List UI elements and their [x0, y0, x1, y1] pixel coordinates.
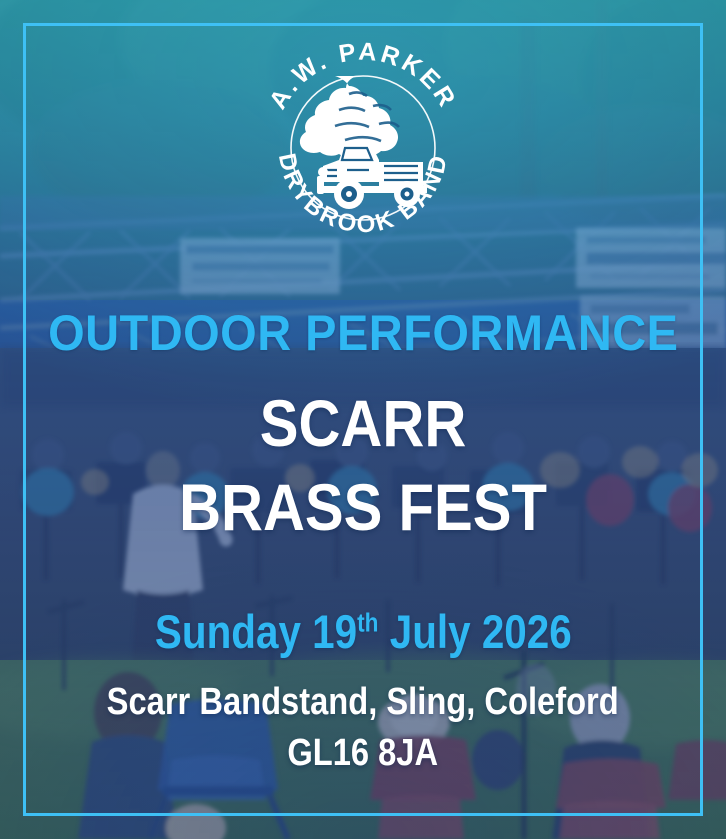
- event-venue: Scarr Bandstand, Sling, Coleford GL16 8J…: [107, 677, 619, 780]
- headline-outdoor-performance: OUTDOOR PERFORMANCE: [48, 308, 678, 358]
- event-date-day-name: Sunday: [155, 605, 301, 658]
- event-poster: A.W. PARKER DRYBROOK BAND: [0, 0, 726, 839]
- event-date-day-suffix: th: [357, 607, 378, 637]
- venue-postcode: GL16 8JA: [107, 728, 619, 779]
- aw-parker-drybrook-band-logo-icon: A.W. PARKER DRYBROOK BAND: [253, 36, 473, 256]
- event-date-day-number: 19: [312, 605, 357, 658]
- poster-content: A.W. PARKER DRYBROOK BAND: [0, 0, 726, 839]
- festival-title-line-2: BRASS FEST: [179, 466, 547, 550]
- venue-address-line: Scarr Bandstand, Sling, Coleford: [107, 677, 619, 728]
- event-date-month-year: July 2026: [389, 605, 571, 658]
- event-date: Sunday 19th July 2026: [155, 608, 572, 655]
- festival-title-line-1: SCARR: [179, 382, 547, 466]
- festival-title: SCARR BRASS FEST: [179, 382, 547, 550]
